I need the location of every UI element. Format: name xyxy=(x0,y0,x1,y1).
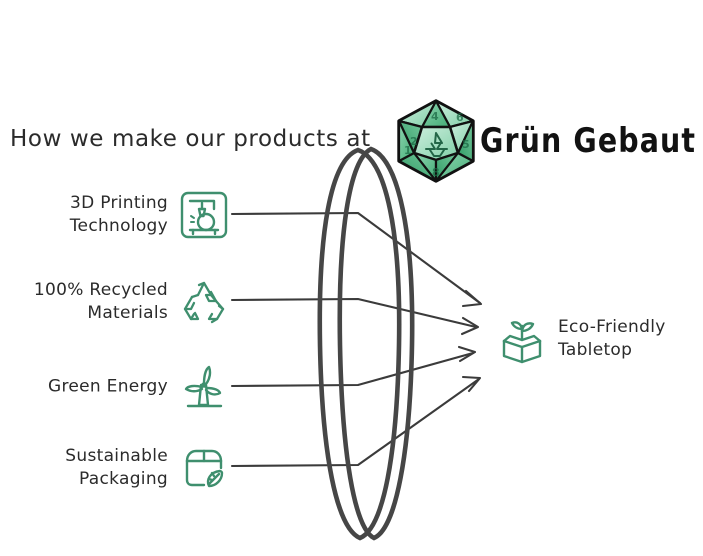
3d-printer-icon xyxy=(178,189,230,241)
recycling-arrows-icon xyxy=(178,276,230,328)
output-node: Eco-Friendly Tabletop xyxy=(496,305,696,373)
flow-connector-3d-printing xyxy=(232,213,481,306)
flow-connector-recycled-materials xyxy=(232,299,478,334)
wind-turbine-icon xyxy=(178,361,230,413)
svg-text:5: 5 xyxy=(462,138,470,151)
flow-connector-sustainable-packaging xyxy=(232,377,480,466)
svg-text:1: 1 xyxy=(404,144,412,157)
input-label-3d-printing: 3D Printing Technology xyxy=(70,192,168,238)
brand-name: Grün Gebaut xyxy=(480,121,696,161)
sprouting-box-icon xyxy=(496,313,548,365)
header: How we make our products at xyxy=(0,48,703,140)
page-title: How we make our products at xyxy=(10,126,371,152)
output-label: Eco-Friendly Tabletop xyxy=(558,316,666,362)
svg-text:8: 8 xyxy=(432,166,440,179)
input-label-recycled-materials: 100% Recycled Materials xyxy=(34,279,168,325)
input-label-sustainable-packaging: Sustainable Packaging xyxy=(65,445,168,491)
infographic-canvas: How we make our products at xyxy=(0,0,703,556)
svg-text:4: 4 xyxy=(431,110,439,123)
flow-connector-green-energy xyxy=(232,347,475,386)
input-row-recycled-materials: 100% Recycled Materials xyxy=(0,270,230,334)
svg-text:6: 6 xyxy=(456,111,464,124)
input-row-3d-printing: 3D Printing Technology xyxy=(0,183,230,247)
process-lens-disc xyxy=(320,149,412,538)
package-leaf-icon xyxy=(178,442,230,494)
input-row-sustainable-packaging: Sustainable Packaging xyxy=(0,436,230,500)
input-label-green-energy: Green Energy xyxy=(48,376,168,399)
d20-dice-recycling-icon: 4 2 6 5 1 8 xyxy=(390,96,482,184)
input-row-green-energy: Green Energy xyxy=(0,355,230,419)
